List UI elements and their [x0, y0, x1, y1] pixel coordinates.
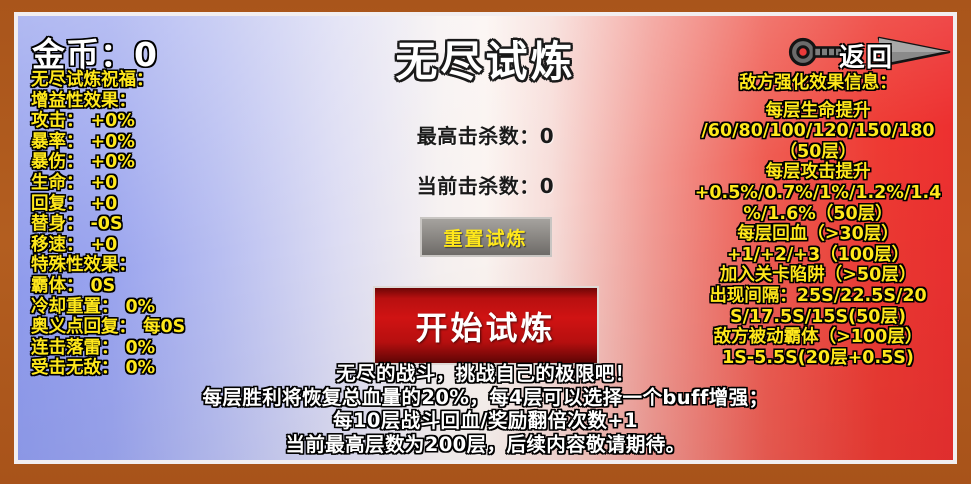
trial-screen-background: 金币：0 无尽试炼 [18, 16, 953, 460]
game-window: 金币：0 无尽试炼 [0, 0, 971, 484]
special-label: 冷却重置： [31, 297, 119, 317]
buff-value: +0 [91, 235, 118, 255]
enemy-info-line: 出现间隔：25S/22.5S/20 [689, 286, 947, 307]
enemy-info-line: 每层攻击提升 [689, 162, 947, 183]
special-row-ultimate-recovery: 奥义点回复：每0S [31, 317, 281, 338]
special-row-cooldown-reset: 冷却重置：0% [31, 297, 281, 318]
blessings-heading: 无尽试炼祝福： [31, 70, 281, 91]
reset-trial-button[interactable]: 重置试炼 [420, 217, 552, 257]
enemy-buff-panel: 敌方强化效果信息： 每层生命提升 /60/80/100/120/150/180 … [689, 73, 947, 368]
enemy-info-line: 加入关卡陷阱（>50层） [689, 265, 947, 286]
buff-row-substitute: 替身：-0S [31, 214, 281, 235]
special-row-combo-lightning: 连击落雷：0% [31, 338, 281, 359]
buff-label: 移速： [31, 235, 84, 255]
description-line: 每层胜利将恢复总血量的20%，每4层可以选择一个buff增强； [18, 386, 953, 410]
trial-description: 无尽的战斗，挑战自己的极限吧！ 每层胜利将恢复总血量的20%，每4层可以选择一个… [18, 362, 953, 456]
special-label: 连击落雷： [31, 338, 119, 358]
enemy-info-line: /60/80/100/120/150/180 [689, 121, 947, 142]
special-value: 0% [126, 338, 156, 358]
special-label: 霸体： [31, 276, 84, 296]
start-trial-button[interactable]: 开始试炼 [373, 286, 599, 365]
description-line: 每10层战斗回血/奖励翻倍次数+1 [18, 409, 953, 433]
special-value: 0S [91, 276, 116, 296]
enemy-info-line: （50层） [689, 142, 947, 163]
buff-label: 替身： [31, 214, 84, 234]
buff-value: -0S [91, 214, 123, 234]
special-heading: 特殊性效果： [31, 255, 281, 276]
back-arrow-graphic [783, 32, 951, 72]
buff-heading: 增益性效果： [31, 91, 281, 112]
enemy-info-line: 每层回血（>30层） [689, 224, 947, 245]
description-line: 无尽的战斗，挑战自己的极限吧！ [18, 362, 953, 386]
blessings-panel: 无尽试炼祝福： 增益性效果： 攻击：+0% 暴率：+0% 暴伤：+0% 生命：+… [31, 70, 281, 379]
enemy-info-line: 每层生命提升 [689, 101, 947, 122]
back-button[interactable]: 返回 [783, 32, 951, 72]
special-value: 每0S [143, 317, 185, 337]
spear-arrow-icon [879, 38, 949, 66]
buff-row-move-speed: 移速：+0 [31, 235, 281, 256]
enemy-info-line: 敌方被动霸体（>100层） [689, 327, 947, 348]
special-row-super-armor: 霸体：0S [31, 276, 281, 297]
enemy-info-line: S/17.5S/15S(50层) [689, 307, 947, 328]
shaft-icon [814, 48, 860, 57]
ring-icon [791, 40, 816, 65]
description-line: 当前最高层数为200层，后续内容敬请期待。 [18, 433, 953, 457]
enemy-info-line: +0.5%/0.7%/1%/1.2%/1.4 [689, 183, 947, 204]
inner-frame: 金币：0 无尽试炼 [14, 12, 957, 464]
enemy-info-line: +1/+2/+3（100层） [689, 245, 947, 266]
special-value: 0% [126, 297, 156, 317]
enemy-panel-heading: 敌方强化效果信息： [689, 73, 947, 94]
special-label: 奥义点回复： [31, 317, 136, 337]
enemy-info-line: %/1.6%（50层） [689, 204, 947, 225]
